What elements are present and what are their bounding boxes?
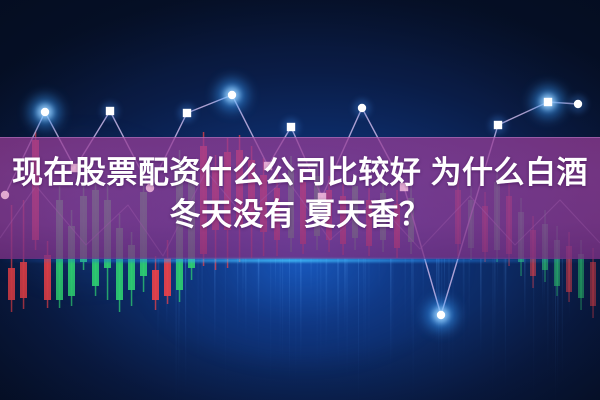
banner-headline: 现在股票配资什么公司比较好 为什么白酒冬天没有 夏天香？ [0,152,600,236]
headline-text: 现在股票配资什么公司比较好 为什么白酒冬天没有 夏天香？ [12,155,588,232]
banner-image: 现在股票配资什么公司比较好 为什么白酒冬天没有 夏天香？ [0,0,600,400]
